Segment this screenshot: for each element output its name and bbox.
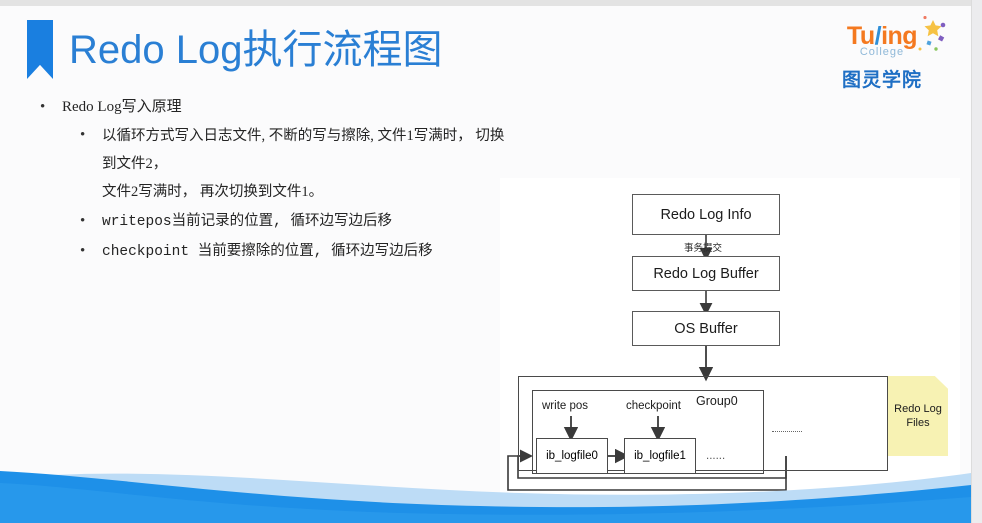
page-title: Redo Log执行流程图: [27, 20, 442, 79]
diagram-label-commit: 事务提交: [684, 240, 722, 254]
diagram-dotted-separator: [772, 431, 802, 432]
bullet-text-line1: 以循环方式写入日志文件, 不断的写与擦除, 文件1写满时， 切换到文件2，: [102, 128, 504, 172]
diagram-label-checkpoint: checkpoint: [626, 400, 681, 412]
bullet-text: writepos当前记录的位置, 循环边写边后移: [102, 208, 392, 236]
diagram-box-label: Redo Log Buffer: [653, 266, 758, 282]
brand-logo: Tu/ing College 图灵学院: [821, 20, 943, 96]
diagram-box-redo-log-buffer: Redo Log Buffer: [632, 256, 780, 291]
window-top-band: [0, 0, 982, 6]
bullet-marker: •: [80, 122, 102, 148]
wave-decoration: [0, 453, 971, 523]
body-content: • Redo Log写入原理 • 以循环方式写入日志文件, 不断的写与擦除, 文…: [36, 94, 506, 268]
diagram-label-group0: Group0: [696, 394, 738, 408]
logo-subtitle: College: [821, 46, 943, 58]
bullet-text: 以循环方式写入日志文件, 不断的写与擦除, 文件1写满时， 切换到文件2， 文件…: [102, 122, 506, 206]
diagram-box-os-buffer: OS Buffer: [632, 311, 780, 346]
bullet-text-line2: 文件2写满时， 再次切换到文件1。: [102, 184, 323, 200]
bullet-item: • 以循环方式写入日志文件, 不断的写与擦除, 文件1写满时， 切换到文件2， …: [80, 122, 506, 206]
window-right-strip: [971, 0, 982, 523]
note-line-1: Redo Log: [888, 402, 948, 416]
bookmark-icon: [27, 20, 53, 79]
slide-root: Redo Log执行流程图 Tu/ing College 图灵学院: [0, 0, 982, 523]
sticky-note-redo-log-files: Redo Log Files: [888, 376, 948, 456]
diagram-label-write-pos: write pos: [542, 400, 588, 412]
diagram-box-label: OS Buffer: [674, 321, 737, 337]
diagram-box-redo-log-info: Redo Log Info: [632, 194, 780, 235]
diagram-box-label: Redo Log Info: [660, 207, 751, 223]
bullet-text: Redo Log写入原理: [62, 94, 182, 120]
note-line-2: Files: [888, 416, 948, 430]
bullet-text: checkpoint 当前要擦除的位置, 循环边写边后移: [102, 238, 433, 266]
slide-surface: Redo Log执行流程图 Tu/ing College 图灵学院: [0, 6, 972, 523]
bullet-item: • Redo Log写入原理: [40, 94, 506, 120]
logo-mark: Tu/ing College: [821, 20, 943, 64]
bullet-marker: •: [80, 238, 102, 264]
logo-chinese-name: 图灵学院: [821, 65, 943, 92]
bullet-marker: •: [80, 208, 102, 234]
bullet-item: • writepos当前记录的位置, 循环边写边后移: [80, 208, 506, 236]
bullet-item: • checkpoint 当前要擦除的位置, 循环边写边后移: [80, 238, 506, 266]
page-title-text: Redo Log执行流程图: [69, 30, 442, 70]
bullet-marker: •: [40, 94, 62, 120]
